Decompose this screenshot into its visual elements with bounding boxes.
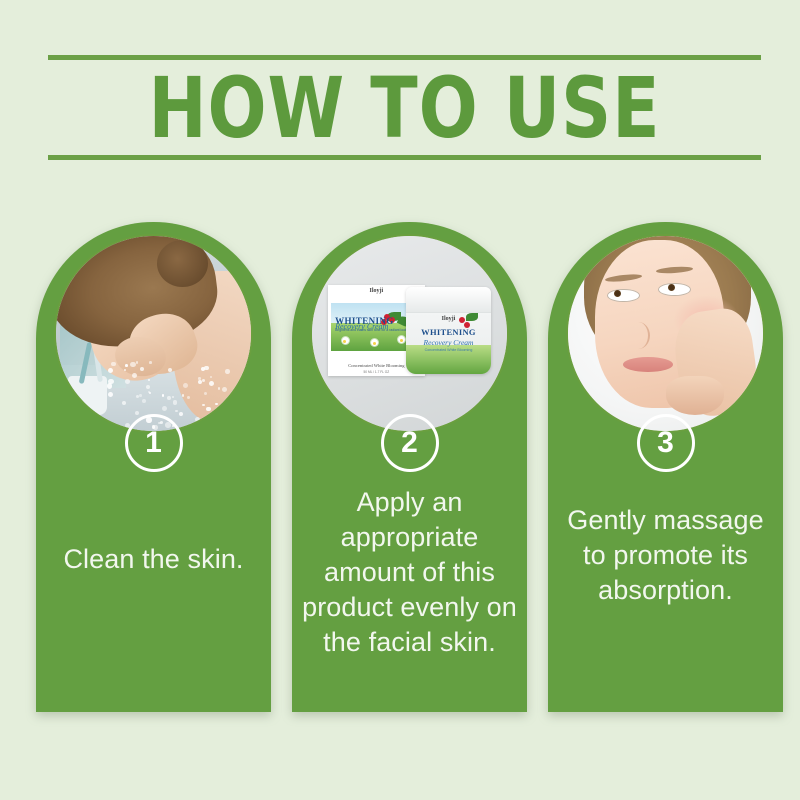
step-number-1: 1 xyxy=(145,428,162,458)
step-card-3[interactable]: 3 Gently massage to promote its absorpti… xyxy=(548,222,783,712)
woman-washing-face-photo xyxy=(54,234,253,433)
product-jar-title: WHITENING xyxy=(406,327,492,337)
page-title: HOW TO USE xyxy=(77,55,733,160)
product-box-and-jar-photo: Iloyji xyxy=(310,234,509,433)
step-caption-1: Clean the skin. xyxy=(42,542,265,577)
header: HOW TO USE xyxy=(48,55,761,160)
product-box-fine-print: Brightens and evens skin tone for a radi… xyxy=(335,328,408,332)
step-caption-3: Gently massage to promote its absorption… xyxy=(554,503,777,608)
step-number-badge-3: 3 xyxy=(637,414,695,472)
product-jar-fine-print: Concentrated White Blooming xyxy=(406,348,492,352)
step-number-2: 2 xyxy=(401,428,418,458)
step-caption-2: Apply an appropriate amount of this prod… xyxy=(298,485,521,660)
title-rule-bottom xyxy=(48,155,761,160)
step-number-3: 3 xyxy=(657,428,674,458)
steps-container: 1 Clean the skin. Iloyji xyxy=(0,222,800,722)
step-number-badge-2: 2 xyxy=(381,414,439,472)
product-jar-subtitle: Recovery Cream xyxy=(406,338,492,347)
step-card-1[interactable]: 1 Clean the skin. xyxy=(36,222,271,712)
step-number-badge-1: 1 xyxy=(125,414,183,472)
product-brand-jar: Iloyji xyxy=(406,316,492,322)
product-jar-lid xyxy=(406,287,492,313)
step-card-2[interactable]: Iloyji xyxy=(292,222,527,712)
woman-face-hand-on-chin-photo xyxy=(566,234,765,433)
product-jar: Iloyji WHITENING Recovery Cream Concentr… xyxy=(406,287,492,375)
